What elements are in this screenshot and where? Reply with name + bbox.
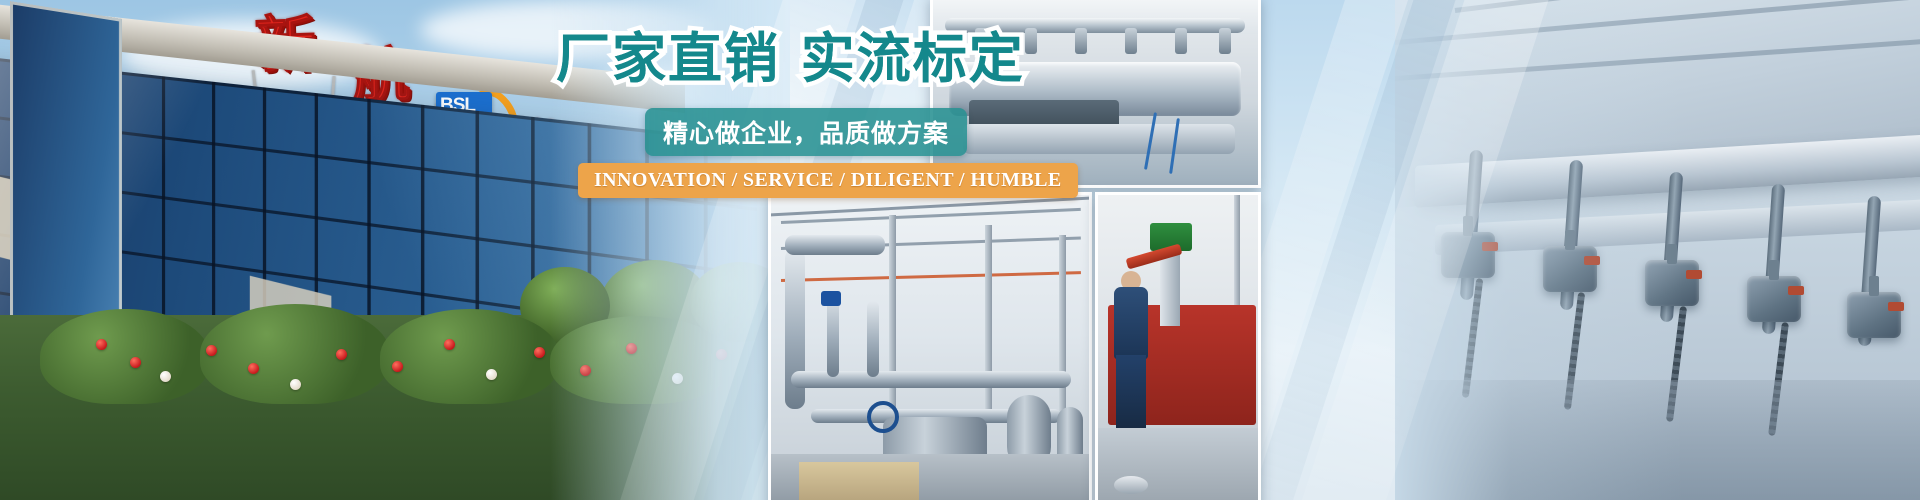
hedge: [40, 309, 210, 404]
flower: [486, 369, 497, 380]
flower: [160, 371, 171, 382]
flower: [248, 363, 259, 374]
rig-valve: [1175, 28, 1187, 54]
rig-header-tube: [945, 18, 1245, 33]
plant-riser: [867, 301, 879, 377]
hand-valve-wheel: [867, 401, 899, 433]
plant-column: [1059, 235, 1066, 415]
rig-lower-body: [963, 124, 1235, 154]
rig-valve: [1125, 28, 1137, 54]
flower: [336, 349, 347, 360]
hall-fade: [1395, 0, 1920, 500]
photo-left-fade: [550, 0, 790, 500]
worker-torso: [1114, 287, 1148, 359]
flower: [130, 357, 141, 368]
valve-actuator: [821, 291, 841, 306]
plant-horizontal-pipe: [785, 235, 885, 255]
flower: [534, 347, 545, 358]
photo-panel-cnc-machining: [1095, 192, 1261, 500]
flower: [392, 361, 403, 372]
hedge: [380, 309, 560, 404]
photo-factory-building: 新 航 仪 表 BSL 新航仪表: [0, 0, 790, 500]
rig-valve: [1075, 28, 1087, 54]
photo-panel-calibration-rig: [930, 0, 1261, 188]
flower: [290, 379, 301, 390]
flower: [444, 339, 455, 350]
flower: [96, 339, 107, 350]
flower: [206, 345, 217, 356]
photo-panel-process-piping: [768, 192, 1092, 500]
photo-instrument-hall: [1395, 0, 1920, 500]
building-corner-tower: [10, 1, 122, 349]
rig-valve: [975, 28, 987, 54]
plant-pallet: [799, 462, 919, 500]
rig-valve: [1219, 28, 1231, 54]
worker-legs: [1116, 355, 1146, 437]
rig-valve: [1025, 28, 1037, 54]
machined-part: [1114, 476, 1148, 494]
promo-banner: 新 航 仪 表 BSL 新航仪表: [0, 0, 1920, 500]
